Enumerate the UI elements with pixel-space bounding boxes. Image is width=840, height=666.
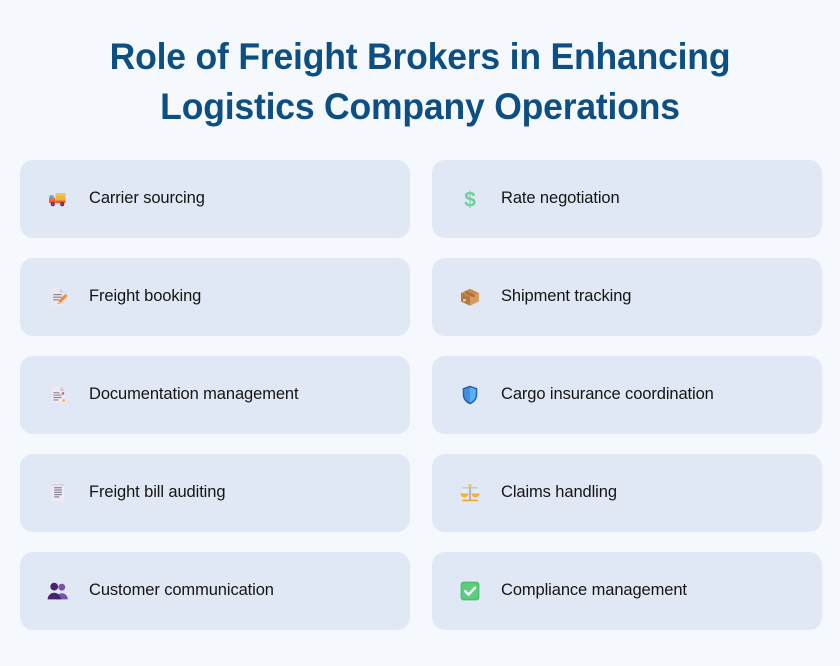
card-label: Freight bill auditing — [89, 483, 225, 503]
card-label: Documentation management — [89, 385, 298, 405]
card-carrier-sourcing[interactable]: Carrier sourcing — [20, 160, 410, 238]
people-silhouette-icon — [45, 578, 71, 604]
card-rate-negotiation[interactable]: $ Rate negotiation — [432, 160, 822, 238]
shield-icon — [457, 382, 483, 408]
card-cargo-insurance-coordination[interactable]: Cargo insurance coordination — [432, 356, 822, 434]
card-grid: Carrier sourcing $ Rate negotiation — [20, 160, 822, 630]
page-title: Role of Freight Brokers in Enhancing Log… — [74, 32, 765, 133]
card-customer-communication[interactable]: Customer communication — [20, 552, 410, 630]
card-documentation-management[interactable]: Documentation management — [20, 356, 410, 434]
card-freight-booking[interactable]: Freight booking — [20, 258, 410, 336]
dollar-sign-icon: $ — [457, 186, 483, 212]
card-freight-bill-auditing[interactable]: Freight bill auditing — [20, 454, 410, 532]
card-compliance-management[interactable]: Compliance management — [432, 552, 822, 630]
delivery-truck-icon — [45, 186, 71, 212]
page-document-icon — [45, 382, 71, 408]
card-label: Shipment tracking — [501, 287, 631, 307]
card-label: Carrier sourcing — [89, 189, 205, 209]
card-label: Customer communication — [89, 581, 274, 601]
card-label: Compliance management — [501, 581, 687, 601]
svg-text:$: $ — [464, 189, 476, 212]
green-check-box-icon — [457, 578, 483, 604]
infographic-page: Role of Freight Brokers in Enhancing Log… — [0, 0, 840, 666]
receipt-icon — [45, 480, 71, 506]
card-label: Rate negotiation — [501, 189, 620, 209]
title-block: Role of Freight Brokers in Enhancing Log… — [0, 0, 840, 133]
card-label: Cargo insurance coordination — [501, 385, 714, 405]
card-label: Claims handling — [501, 483, 617, 503]
package-box-icon — [457, 284, 483, 310]
balance-scale-icon — [457, 480, 483, 506]
card-claims-handling[interactable]: Claims handling — [432, 454, 822, 532]
card-shipment-tracking[interactable]: Shipment tracking — [432, 258, 822, 336]
card-label: Freight booking — [89, 287, 201, 307]
memo-pencil-icon — [45, 284, 71, 310]
